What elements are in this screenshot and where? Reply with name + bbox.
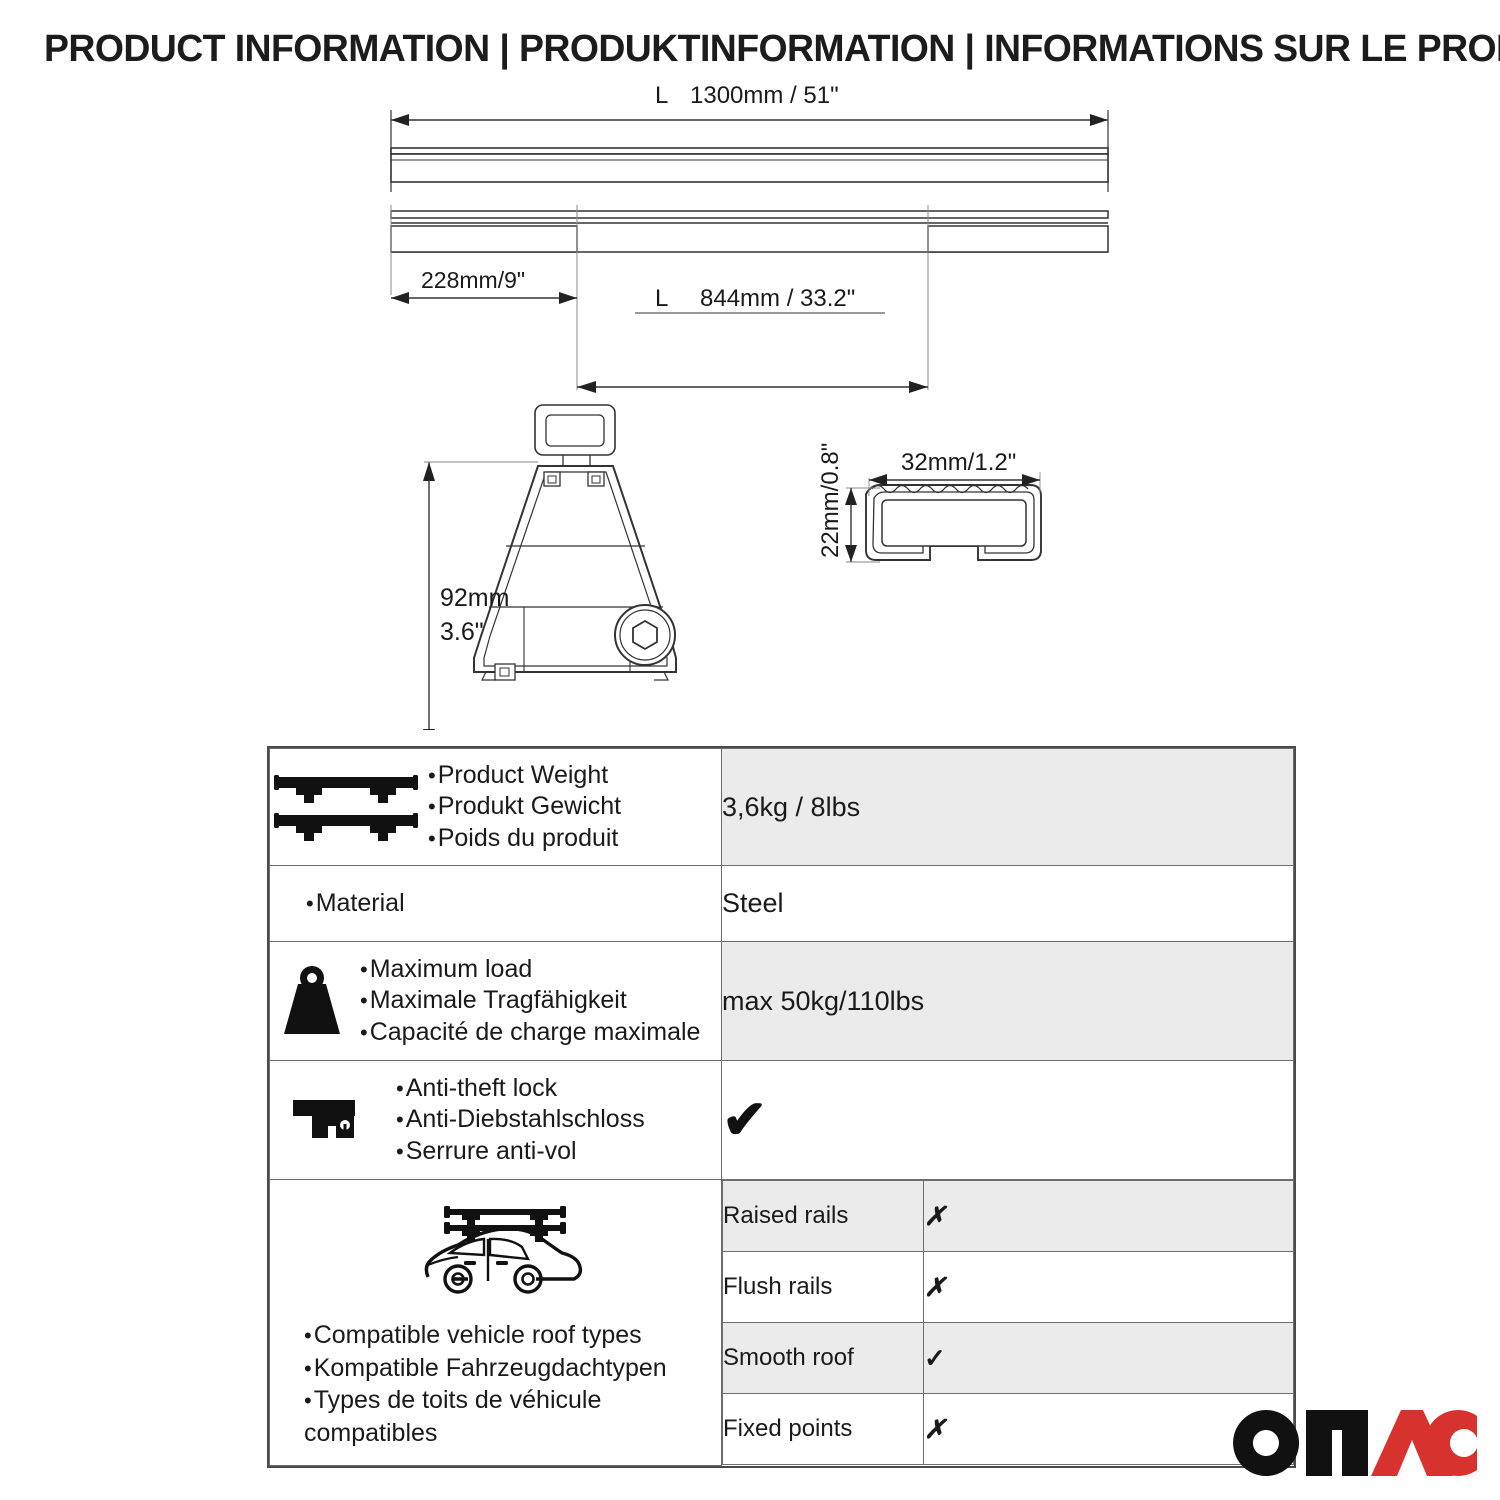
drawings-svg: L 1300mm / 51" 228mm/9" [0, 80, 1500, 730]
spec-bullets-material: Material [306, 888, 405, 920]
table-row: Maximum load Maximale Tragfähigkeit Capa… [270, 942, 1294, 1061]
roof-types-cell: Raised rails ✗ Flush rails ✗ Smooth roof… [722, 1180, 1294, 1466]
bullet-line: Material [306, 888, 405, 920]
roof-type-row: Flush rails ✗ [723, 1252, 1294, 1323]
tower-height-line2: 3.6" [440, 618, 484, 646]
bar-length-value: 1300mm / 51" [690, 82, 839, 109]
table-row-compatibility: Compatible vehicle roof types Kompatible… [270, 1180, 1294, 1466]
table-row: Product Weight Produkt Gewicht Poids du … [270, 749, 1294, 866]
weight-icon [270, 962, 354, 1040]
page-title: PRODUCT INFORMATION | PRODUKTINFORMATION… [44, 28, 1443, 71]
spec-value-lock: ✔ [722, 1061, 1294, 1180]
spec-value-weight: 3,6kg / 8lbs [722, 749, 1294, 866]
spec-bullets-maxload: Maximum load Maximale Tragfähigkeit Capa… [360, 954, 700, 1049]
tower-front-view [474, 405, 676, 680]
roof-type-row: Fixed points ✗ [723, 1394, 1294, 1465]
foot-offset-dimension [391, 292, 577, 304]
roof-type-row: Raised rails ✗ [723, 1181, 1294, 1252]
profile-cross-section [866, 485, 1041, 560]
spec-bullets-lock: Anti-theft lock Anti-Diebstahlschloss Se… [396, 1073, 645, 1168]
roof-type-label: Raised rails [723, 1181, 924, 1252]
crossbars-icon [270, 769, 422, 845]
bullet-line: Kompatible Fahrzeugdachtypen [304, 1352, 667, 1385]
table-row: Material Steel [270, 866, 1294, 942]
profile-height-value: 22mm/0.8" [817, 443, 844, 558]
lock-icon [270, 1090, 390, 1150]
spec-label-cell-material: Material [270, 866, 722, 942]
bullet-line: Maximum load [360, 954, 700, 986]
compat-bullets: Compatible vehicle roof types Kompatible… [304, 1319, 667, 1449]
logo-letter-o [1233, 1410, 1299, 1476]
spec-label-cell-maxload: Maximum load Maximale Tragfähigkeit Capa… [270, 942, 722, 1061]
car-with-roofrack-icon [406, 1195, 586, 1307]
roof-type-label: Flush rails [723, 1252, 924, 1323]
foot-spread-value: 844mm / 33.2" [700, 285, 855, 312]
bullet-line: Serrure anti-vol [396, 1136, 645, 1168]
bullet-line: Product Weight [428, 760, 621, 792]
spec-table: Product Weight Produkt Gewicht Poids du … [267, 746, 1296, 1468]
omac-logo [1230, 1404, 1480, 1482]
bar-top-view [391, 110, 1108, 192]
foot-offset-value: 228mm/9" [421, 267, 525, 293]
bullet-line: Anti-Diebstahlschloss [396, 1104, 645, 1136]
roof-types-table: Raised rails ✗ Flush rails ✗ Smooth roof… [722, 1180, 1294, 1465]
bar-length-prefix: L [655, 82, 668, 109]
bullet-line: Poids du produit [428, 823, 621, 855]
bullet-line: Produkt Gewicht [428, 791, 621, 823]
bullet-line: Maximale Tragfähigkeit [360, 985, 700, 1017]
compat-label-cell: Compatible vehicle roof types Kompatible… [270, 1180, 722, 1466]
table-row: Anti-theft lock Anti-Diebstahlschloss Se… [270, 1061, 1294, 1180]
spec-bullets-weight: Product Weight Produkt Gewicht Poids du … [428, 760, 621, 855]
foot-spread-dimension [577, 313, 928, 393]
logo-letter-m [1306, 1410, 1368, 1476]
roof-type-label: Smooth roof [723, 1323, 924, 1394]
profile-width-value: 32mm/1.2" [901, 449, 1016, 476]
spec-value-material: Steel [722, 866, 1294, 942]
spec-label-cell-weight: Product Weight Produkt Gewicht Poids du … [270, 749, 722, 866]
tower-height-line1: 92mm [440, 584, 509, 612]
bullet-line: Compatible vehicle roof types [304, 1319, 667, 1352]
bullet-line: Anti-theft lock [396, 1073, 645, 1105]
technical-drawings: L 1300mm / 51" 228mm/9" [0, 80, 1500, 730]
roof-type-mark-icon: ✗ [924, 1252, 1294, 1323]
foot-spread-prefix: L [655, 285, 668, 312]
bullet-line-continuation: compatibles [304, 1417, 667, 1450]
roof-type-mark-icon: ✓ [924, 1323, 1294, 1394]
omac-logo-svg [1230, 1404, 1480, 1482]
spec-label-cell-lock: Anti-theft lock Anti-Diebstahlschloss Se… [270, 1061, 722, 1180]
roof-type-row: Smooth roof ✓ [723, 1323, 1294, 1394]
checkmark-icon: ✔ [722, 1090, 767, 1150]
roof-type-mark-icon: ✗ [924, 1181, 1294, 1252]
roof-type-label: Fixed points [723, 1394, 924, 1465]
spec-value-maxload: max 50kg/110lbs [722, 942, 1294, 1061]
bullet-line: Types de toits de véhicule [304, 1384, 667, 1417]
bullet-line: Capacité de charge maximale [360, 1017, 700, 1049]
